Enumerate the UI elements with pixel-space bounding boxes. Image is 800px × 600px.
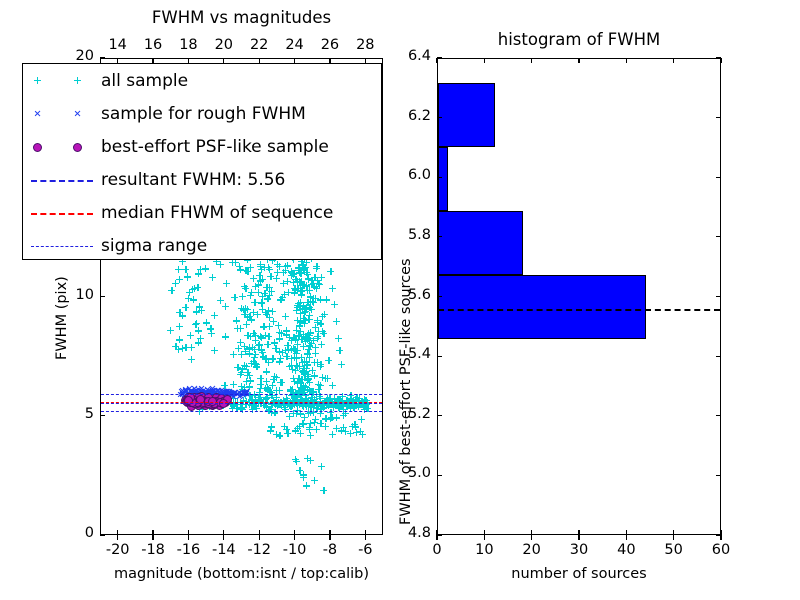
- all-sample-point: [290, 375, 297, 382]
- all-sample-point: [288, 272, 295, 279]
- all-sample-point: [290, 279, 297, 286]
- y-tick-left: [100, 296, 105, 297]
- all-sample-point: [294, 363, 301, 370]
- all-sample-point: [246, 345, 253, 352]
- all-sample-point: [277, 379, 284, 386]
- all-sample-point: [349, 423, 356, 430]
- all-sample-point: [238, 351, 245, 358]
- rough-fwhm-point: [181, 392, 188, 399]
- all-sample-point: [266, 314, 273, 321]
- all-sample-point: [303, 269, 310, 276]
- y-tick-label-hist: 5.0: [385, 465, 431, 481]
- all-sample-point: [285, 289, 292, 296]
- all-sample-point: [315, 328, 322, 335]
- all-sample-point: [272, 345, 279, 352]
- y-tick-hist: [437, 236, 442, 237]
- rough-fwhm-point: [218, 387, 225, 394]
- all-sample-point: [322, 423, 329, 430]
- all-sample-point: [275, 322, 282, 329]
- all-sample-point: [301, 371, 308, 378]
- all-sample-point: [269, 392, 276, 399]
- all-sample-point: [305, 275, 312, 282]
- all-sample-point: [282, 347, 289, 354]
- x-tick-bottom-inner: [117, 530, 118, 535]
- all-sample-point: [295, 375, 302, 382]
- all-sample-point: [317, 361, 324, 368]
- all-sample-point: [288, 268, 295, 275]
- all-sample-point: [238, 305, 245, 312]
- all-sample-point: [300, 302, 307, 309]
- rough-fwhm-point: [217, 392, 224, 399]
- all-sample-point: [258, 266, 265, 273]
- rough-fwhm-point: [189, 392, 196, 399]
- all-sample-point: [303, 365, 310, 372]
- all-sample-point: [292, 286, 299, 293]
- all-sample-point: [269, 308, 276, 315]
- all-sample-point: [308, 340, 315, 347]
- all-sample-point: [299, 389, 306, 396]
- all-sample-point: [289, 386, 296, 393]
- all-sample-point: [202, 265, 209, 272]
- all-sample-point: [279, 349, 286, 356]
- all-sample-point: [308, 306, 315, 313]
- all-sample-point: [184, 274, 191, 281]
- histogram-bar: [438, 211, 523, 275]
- y-tick-label-left: 0: [52, 525, 94, 541]
- all-sample-point: [195, 270, 202, 277]
- all-sample-point: [273, 387, 280, 394]
- all-sample-point: [338, 427, 345, 434]
- all-sample-point: [231, 294, 238, 301]
- all-sample-point: [264, 341, 271, 348]
- all-sample-point: [295, 264, 302, 271]
- all-sample-point: [271, 339, 278, 346]
- all-sample-point: [176, 323, 183, 330]
- all-sample-point: [361, 406, 368, 413]
- x-tick-hist-inner: [673, 530, 674, 535]
- left-panel-title: FWHM vs magnitudes: [100, 8, 383, 27]
- all-sample-point: [297, 384, 304, 391]
- legend-item: sample for rough FWHM: [23, 97, 381, 130]
- all-sample-point: [234, 364, 241, 371]
- all-sample-point: [294, 425, 301, 432]
- all-sample-point: [300, 369, 307, 376]
- legend-label: median FHWM of sequence: [101, 203, 333, 223]
- all-sample-point: [329, 431, 336, 438]
- rough-fwhm-point: [211, 387, 218, 394]
- all-sample-point: [329, 382, 336, 389]
- all-sample-point: [296, 467, 303, 474]
- all-sample-point: [198, 307, 205, 314]
- all-sample-point: [211, 347, 218, 354]
- y-tick-label-hist: 6.2: [385, 108, 431, 124]
- all-sample-point: [251, 354, 258, 361]
- left-panel-xlabel: magnitude (bottom:isnt / top:calib): [100, 566, 383, 582]
- all-sample-point: [176, 336, 183, 343]
- all-sample-point: [329, 285, 336, 292]
- all-sample-point: [293, 362, 300, 369]
- all-sample-point: [175, 266, 182, 273]
- rough-fwhm-point: [193, 387, 200, 394]
- rough-fwhm-point: [213, 392, 220, 399]
- rough-fwhm-point: [213, 389, 220, 396]
- all-sample-point: [319, 374, 326, 381]
- all-sample-point: [295, 300, 302, 307]
- x-tick-hist-inner: [578, 530, 579, 535]
- all-sample-point: [311, 274, 318, 281]
- all-sample-point: [303, 368, 310, 375]
- all-sample-point: [261, 264, 268, 271]
- all-sample-point: [300, 367, 307, 374]
- all-sample-point: [297, 380, 304, 387]
- figure-canvas: FWHM vs magnitudes magnitude (bottom:isn…: [0, 0, 800, 600]
- all-sample-point: [336, 347, 343, 354]
- all-sample-point: [274, 269, 281, 276]
- all-sample-point: [239, 406, 246, 413]
- all-sample-point: [299, 281, 306, 288]
- all-sample-point: [297, 310, 304, 317]
- all-sample-point: [300, 331, 307, 338]
- all-sample-point: [249, 344, 256, 351]
- all-sample-point: [241, 283, 248, 290]
- all-sample-point: [191, 285, 198, 292]
- all-sample-point: [238, 383, 245, 390]
- all-sample-point: [242, 305, 249, 312]
- all-sample-point: [297, 430, 304, 437]
- y-tick-label-hist: 5.2: [385, 406, 431, 422]
- cross-marker-icon: [34, 110, 41, 117]
- all-sample-point: [314, 277, 321, 284]
- all-sample-point: [268, 409, 275, 416]
- x-tick-hist-top: [720, 58, 721, 63]
- all-sample-point: [283, 395, 290, 402]
- legend: all samplesample for rough FWHMbest-effo…: [22, 63, 382, 260]
- all-sample-point: [312, 344, 319, 351]
- all-sample-point: [257, 381, 264, 388]
- all-sample-point: [301, 370, 308, 377]
- all-sample-point: [293, 458, 300, 465]
- all-sample-point: [310, 409, 317, 416]
- all-sample-point: [305, 276, 312, 283]
- all-sample-point: [258, 346, 265, 353]
- all-sample-point: [292, 276, 299, 283]
- all-sample-point: [230, 351, 237, 358]
- all-sample-point: [247, 333, 254, 340]
- y-tick-label-left: 10: [52, 287, 94, 303]
- histogram-bar: [438, 275, 646, 339]
- all-sample-point: [307, 329, 314, 336]
- all-sample-point: [300, 421, 307, 428]
- all-sample-point: [294, 341, 301, 348]
- all-sample-point: [246, 372, 253, 379]
- all-sample-point: [292, 287, 299, 294]
- rough-fwhm-point: [210, 392, 217, 399]
- all-sample-point: [317, 296, 324, 303]
- all-sample-point: [319, 328, 326, 335]
- y-tick-hist: [437, 296, 442, 297]
- all-sample-point: [266, 323, 273, 330]
- all-sample-point: [306, 335, 313, 342]
- x-tick-bottom-inner: [365, 530, 366, 535]
- all-sample-point: [278, 296, 285, 303]
- rough-fwhm-point: [220, 392, 227, 399]
- all-sample-point: [306, 312, 313, 319]
- all-sample-point: [320, 330, 327, 337]
- all-sample-point: [244, 314, 251, 321]
- all-sample-point: [273, 394, 280, 401]
- all-sample-point: [268, 288, 275, 295]
- all-sample-point: [204, 394, 211, 401]
- all-sample-point: [258, 334, 265, 341]
- all-sample-point: [302, 305, 309, 312]
- all-sample-point: [323, 296, 330, 303]
- all-sample-point: [314, 359, 321, 366]
- all-sample-point: [314, 335, 321, 342]
- all-sample-point: [172, 343, 179, 350]
- all-sample-point: [207, 325, 214, 332]
- all-sample-point: [347, 430, 354, 437]
- x-tick-bottom-inner: [152, 530, 153, 535]
- all-sample-point: [291, 354, 298, 361]
- all-sample-point: [322, 415, 329, 422]
- all-sample-point: [310, 299, 317, 306]
- resultant-fwhm-line: [101, 403, 382, 404]
- x-tick-label-hist: 10: [462, 542, 506, 558]
- rough-fwhm-point: [183, 392, 190, 399]
- all-sample-point: [286, 363, 293, 370]
- x-tick-hist: [436, 535, 437, 540]
- all-sample-point: [301, 320, 308, 327]
- all-sample-point: [239, 404, 246, 411]
- rough-fwhm-point: [209, 385, 216, 392]
- y-tick-hist: [437, 117, 442, 118]
- all-sample-point: [285, 346, 292, 353]
- x-tick-bottom: [188, 535, 189, 540]
- all-sample-point: [242, 348, 249, 355]
- all-sample-point: [335, 335, 342, 342]
- all-sample-point: [292, 427, 299, 434]
- all-sample-point: [311, 359, 318, 366]
- all-sample-point: [241, 343, 248, 350]
- all-sample-point: [294, 380, 301, 387]
- all-sample-point: [277, 355, 284, 362]
- all-sample-point: [293, 350, 300, 357]
- all-sample-point: [302, 383, 309, 390]
- all-sample-point: [255, 289, 262, 296]
- all-sample-point: [303, 283, 310, 290]
- all-sample-point: [304, 371, 311, 378]
- all-sample-point: [310, 404, 317, 411]
- all-sample-point: [265, 264, 272, 271]
- all-sample-point: [264, 384, 271, 391]
- rough-fwhm-point: [196, 392, 203, 399]
- histogram-bar: [438, 147, 448, 211]
- y-tick-label-hist: 5.6: [385, 287, 431, 303]
- all-sample-point: [307, 420, 314, 427]
- all-sample-point: [333, 414, 340, 421]
- all-sample-point: [304, 271, 311, 278]
- all-sample-point: [175, 346, 182, 353]
- all-sample-point: [247, 377, 254, 384]
- all-sample-point: [313, 265, 320, 272]
- all-sample-point: [327, 409, 334, 416]
- all-sample-point: [297, 306, 304, 313]
- all-sample-point: [298, 278, 305, 285]
- all-sample-point: [230, 395, 237, 402]
- all-sample-point: [260, 353, 267, 360]
- all-sample-point: [283, 327, 290, 334]
- all-sample-point: [242, 267, 249, 274]
- all-sample-point: [263, 368, 270, 375]
- x-tick-bottom-inner: [329, 530, 330, 535]
- all-sample-point: [262, 309, 269, 316]
- all-sample-point: [186, 289, 193, 296]
- all-sample-point: [262, 355, 269, 362]
- x-tick-bottom-inner: [188, 530, 189, 535]
- all-sample-point: [252, 351, 259, 358]
- x-tick-hist-top: [531, 58, 532, 63]
- x-tick-hist: [626, 535, 627, 540]
- all-sample-point: [258, 299, 265, 306]
- all-sample-point: [250, 358, 257, 365]
- all-sample-point: [251, 299, 258, 306]
- legend-handle: [23, 64, 101, 97]
- x-tick-bottom: [223, 535, 224, 540]
- all-sample-point: [318, 406, 325, 413]
- all-sample-point: [273, 275, 280, 282]
- all-sample-point: [259, 306, 266, 313]
- rough-fwhm-point: [222, 389, 229, 396]
- rough-fwhm-point: [220, 389, 227, 396]
- all-sample-point: [239, 365, 246, 372]
- all-sample-point: [288, 337, 295, 344]
- all-sample-point: [276, 387, 283, 394]
- all-sample-point: [255, 281, 262, 288]
- all-sample-point: [292, 347, 299, 354]
- all-sample-point: [302, 384, 309, 391]
- all-sample-point: [203, 319, 210, 326]
- all-sample-point: [243, 378, 250, 385]
- sigma-range-lower-line: [101, 411, 382, 412]
- all-sample-point: [185, 295, 192, 302]
- legend-label: best-effort PSF-like sample: [101, 137, 329, 157]
- x-tick-label-hist: 40: [604, 542, 648, 558]
- all-sample-point: [311, 372, 318, 379]
- all-sample-point: [255, 281, 262, 288]
- y-tick-hist-right: [716, 534, 721, 535]
- all-sample-point: [298, 291, 305, 298]
- all-sample-point: [302, 317, 309, 324]
- all-sample-point: [197, 266, 204, 273]
- y-tick-hist: [437, 415, 442, 416]
- all-sample-point: [297, 270, 304, 277]
- all-sample-point: [333, 425, 340, 432]
- all-sample-point: [331, 395, 338, 402]
- circle-marker-icon: [33, 143, 42, 152]
- all-sample-point: [297, 270, 304, 277]
- all-sample-point: [302, 264, 309, 271]
- all-sample-point: [305, 299, 312, 306]
- x-tick-hist-inner: [626, 530, 627, 535]
- rough-fwhm-point: [188, 387, 195, 394]
- all-sample-point: [297, 430, 304, 437]
- all-sample-point: [195, 339, 202, 346]
- all-sample-point: [299, 420, 306, 427]
- all-sample-point: [274, 261, 281, 268]
- rough-fwhm-point: [188, 387, 195, 394]
- all-sample-point: [293, 307, 300, 314]
- all-sample-point: [270, 318, 277, 325]
- all-sample-point: [305, 346, 312, 353]
- all-sample-point: [236, 263, 243, 270]
- all-sample-point: [304, 377, 311, 384]
- all-sample-point: [303, 359, 310, 366]
- all-sample-point: [296, 303, 303, 310]
- x-tick-bottom: [329, 535, 330, 540]
- rough-fwhm-point: [223, 389, 230, 396]
- all-sample-point: [237, 339, 244, 346]
- all-sample-point: [244, 268, 251, 275]
- rough-fwhm-point: [205, 387, 212, 394]
- all-sample-point: [355, 403, 362, 410]
- all-sample-point: [168, 287, 175, 294]
- rough-fwhm-point: [209, 390, 216, 397]
- all-sample-point: [188, 356, 195, 363]
- all-sample-point: [314, 333, 321, 340]
- all-sample-point: [330, 404, 337, 411]
- all-sample-point: [179, 312, 186, 319]
- all-sample-point: [282, 263, 289, 270]
- all-sample-point: [233, 317, 240, 324]
- all-sample-point: [311, 283, 318, 290]
- all-sample-point: [358, 416, 365, 423]
- all-sample-point: [299, 306, 306, 313]
- all-sample-point: [303, 482, 310, 489]
- all-sample-point: [235, 345, 242, 352]
- all-sample-point: [269, 355, 276, 362]
- all-sample-point: [260, 323, 267, 330]
- all-sample-point: [318, 341, 325, 348]
- all-sample-point: [296, 322, 303, 329]
- all-sample-point: [221, 382, 228, 389]
- all-sample-point: [307, 298, 314, 305]
- all-sample-point: [263, 404, 270, 411]
- all-sample-point: [220, 392, 227, 399]
- all-sample-point: [304, 334, 311, 341]
- all-sample-point: [243, 321, 250, 328]
- all-sample-point: [276, 329, 283, 336]
- all-sample-point: [300, 282, 307, 289]
- all-sample-point: [252, 337, 259, 344]
- x-tick-hist-inner: [531, 530, 532, 535]
- all-sample-point: [304, 362, 311, 369]
- all-sample-point: [295, 267, 302, 274]
- all-sample-point: [267, 427, 274, 434]
- rough-fwhm-point: [183, 387, 190, 394]
- all-sample-point: [295, 387, 302, 394]
- all-sample-point: [298, 384, 305, 391]
- all-sample-point: [262, 332, 269, 339]
- all-sample-point: [300, 315, 307, 322]
- all-sample-point: [240, 306, 247, 313]
- all-sample-point: [297, 285, 304, 292]
- all-sample-point: [298, 376, 305, 383]
- all-sample-point: [292, 367, 299, 374]
- all-sample-point: [239, 386, 246, 393]
- all-sample-point: [243, 321, 250, 328]
- all-sample-point: [256, 272, 263, 279]
- all-sample-point: [284, 278, 291, 285]
